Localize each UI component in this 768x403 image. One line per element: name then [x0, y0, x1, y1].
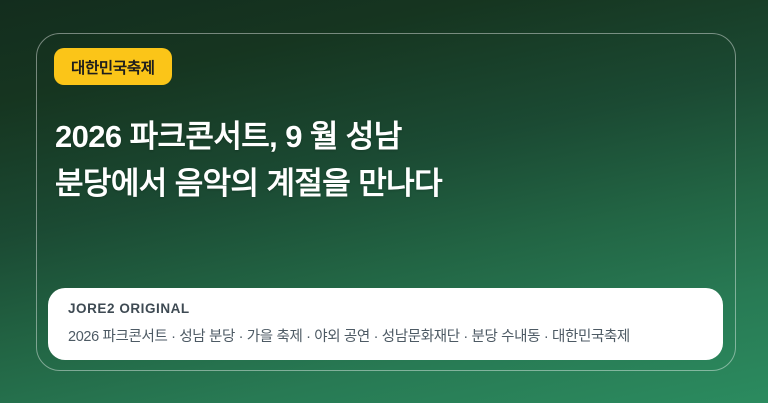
page-title-line-2: 분당에서 음악의 계절을 만나다 [55, 160, 695, 207]
brand-label: JORE2 ORIGINAL [68, 301, 768, 316]
keyword-list: 2026 파크콘서트 · 성남 분당 · 가을 축제 · 야외 공연 · 성남문… [68, 325, 768, 346]
category-badge[interactable]: 대한민국축제 [54, 48, 172, 85]
info-card-content: JORE2 ORIGINAL 2026 파크콘서트 · 성남 분당 · 가을 축… [48, 288, 768, 360]
page-title: 2026 파크콘서트, 9 월 성남 분당에서 음악의 계절을 만나다 [55, 113, 695, 207]
category-badge-label: 대한민국축제 [71, 56, 155, 78]
promo-banner: 대한민국축제 2026 파크콘서트, 9 월 성남 분당에서 음악의 계절을 만… [0, 0, 768, 403]
page-title-line-1: 2026 파크콘서트, 9 월 성남 [55, 113, 695, 160]
